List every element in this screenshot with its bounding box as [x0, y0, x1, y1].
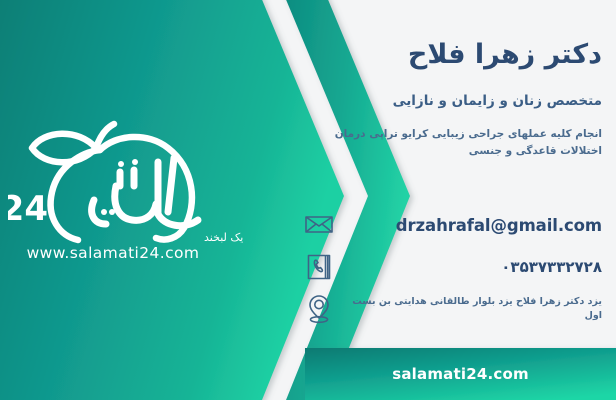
footer-bar: salamati24.com: [305, 348, 616, 400]
primary-chevron-shape: [0, 0, 344, 400]
doctor-name: دکتر زهرا فلاح: [302, 38, 602, 72]
business-card: 24 براحتی یک لبخند www.salamati24.com دک…: [0, 0, 616, 400]
doctor-about: انجام کلیه عملهای جراحی زیبایی کرایو ترا…: [302, 126, 602, 161]
doctor-specialty: متخصص زنان و زایمان و نازایی: [302, 92, 602, 110]
envelope-icon: [302, 208, 336, 242]
contact-row-email[interactable]: drzahrafal@gmail.com: [302, 208, 602, 242]
email-address[interactable]: drzahrafal@gmail.com: [345, 216, 602, 235]
contact-row-phone[interactable]: ۰۳۵۳۷۳۳۲۷۲۸: [302, 250, 602, 284]
content-column: دکتر زهرا فلاح متخصص زنان و زایمان و ناز…: [302, 0, 602, 400]
phone-number[interactable]: ۰۳۵۳۷۳۳۲۷۲۸: [345, 258, 602, 276]
about-line-1: انجام کلیه عملهای جراحی زیبایی کرایو ترا…: [302, 126, 602, 143]
clinic-address[interactable]: یزد دکتر زهرا فلاح یزد بلوار طالقانی هدا…: [345, 295, 602, 324]
about-line-2: اختلالات قاعدگی و جنسی: [302, 143, 602, 160]
footer-website[interactable]: salamati24.com: [392, 365, 529, 383]
phone-book-icon: [302, 250, 336, 284]
contact-row-address[interactable]: یزد دکتر زهرا فلاح یزد بلوار طالقانی هدا…: [302, 292, 602, 326]
location-pin-icon: [302, 292, 336, 326]
